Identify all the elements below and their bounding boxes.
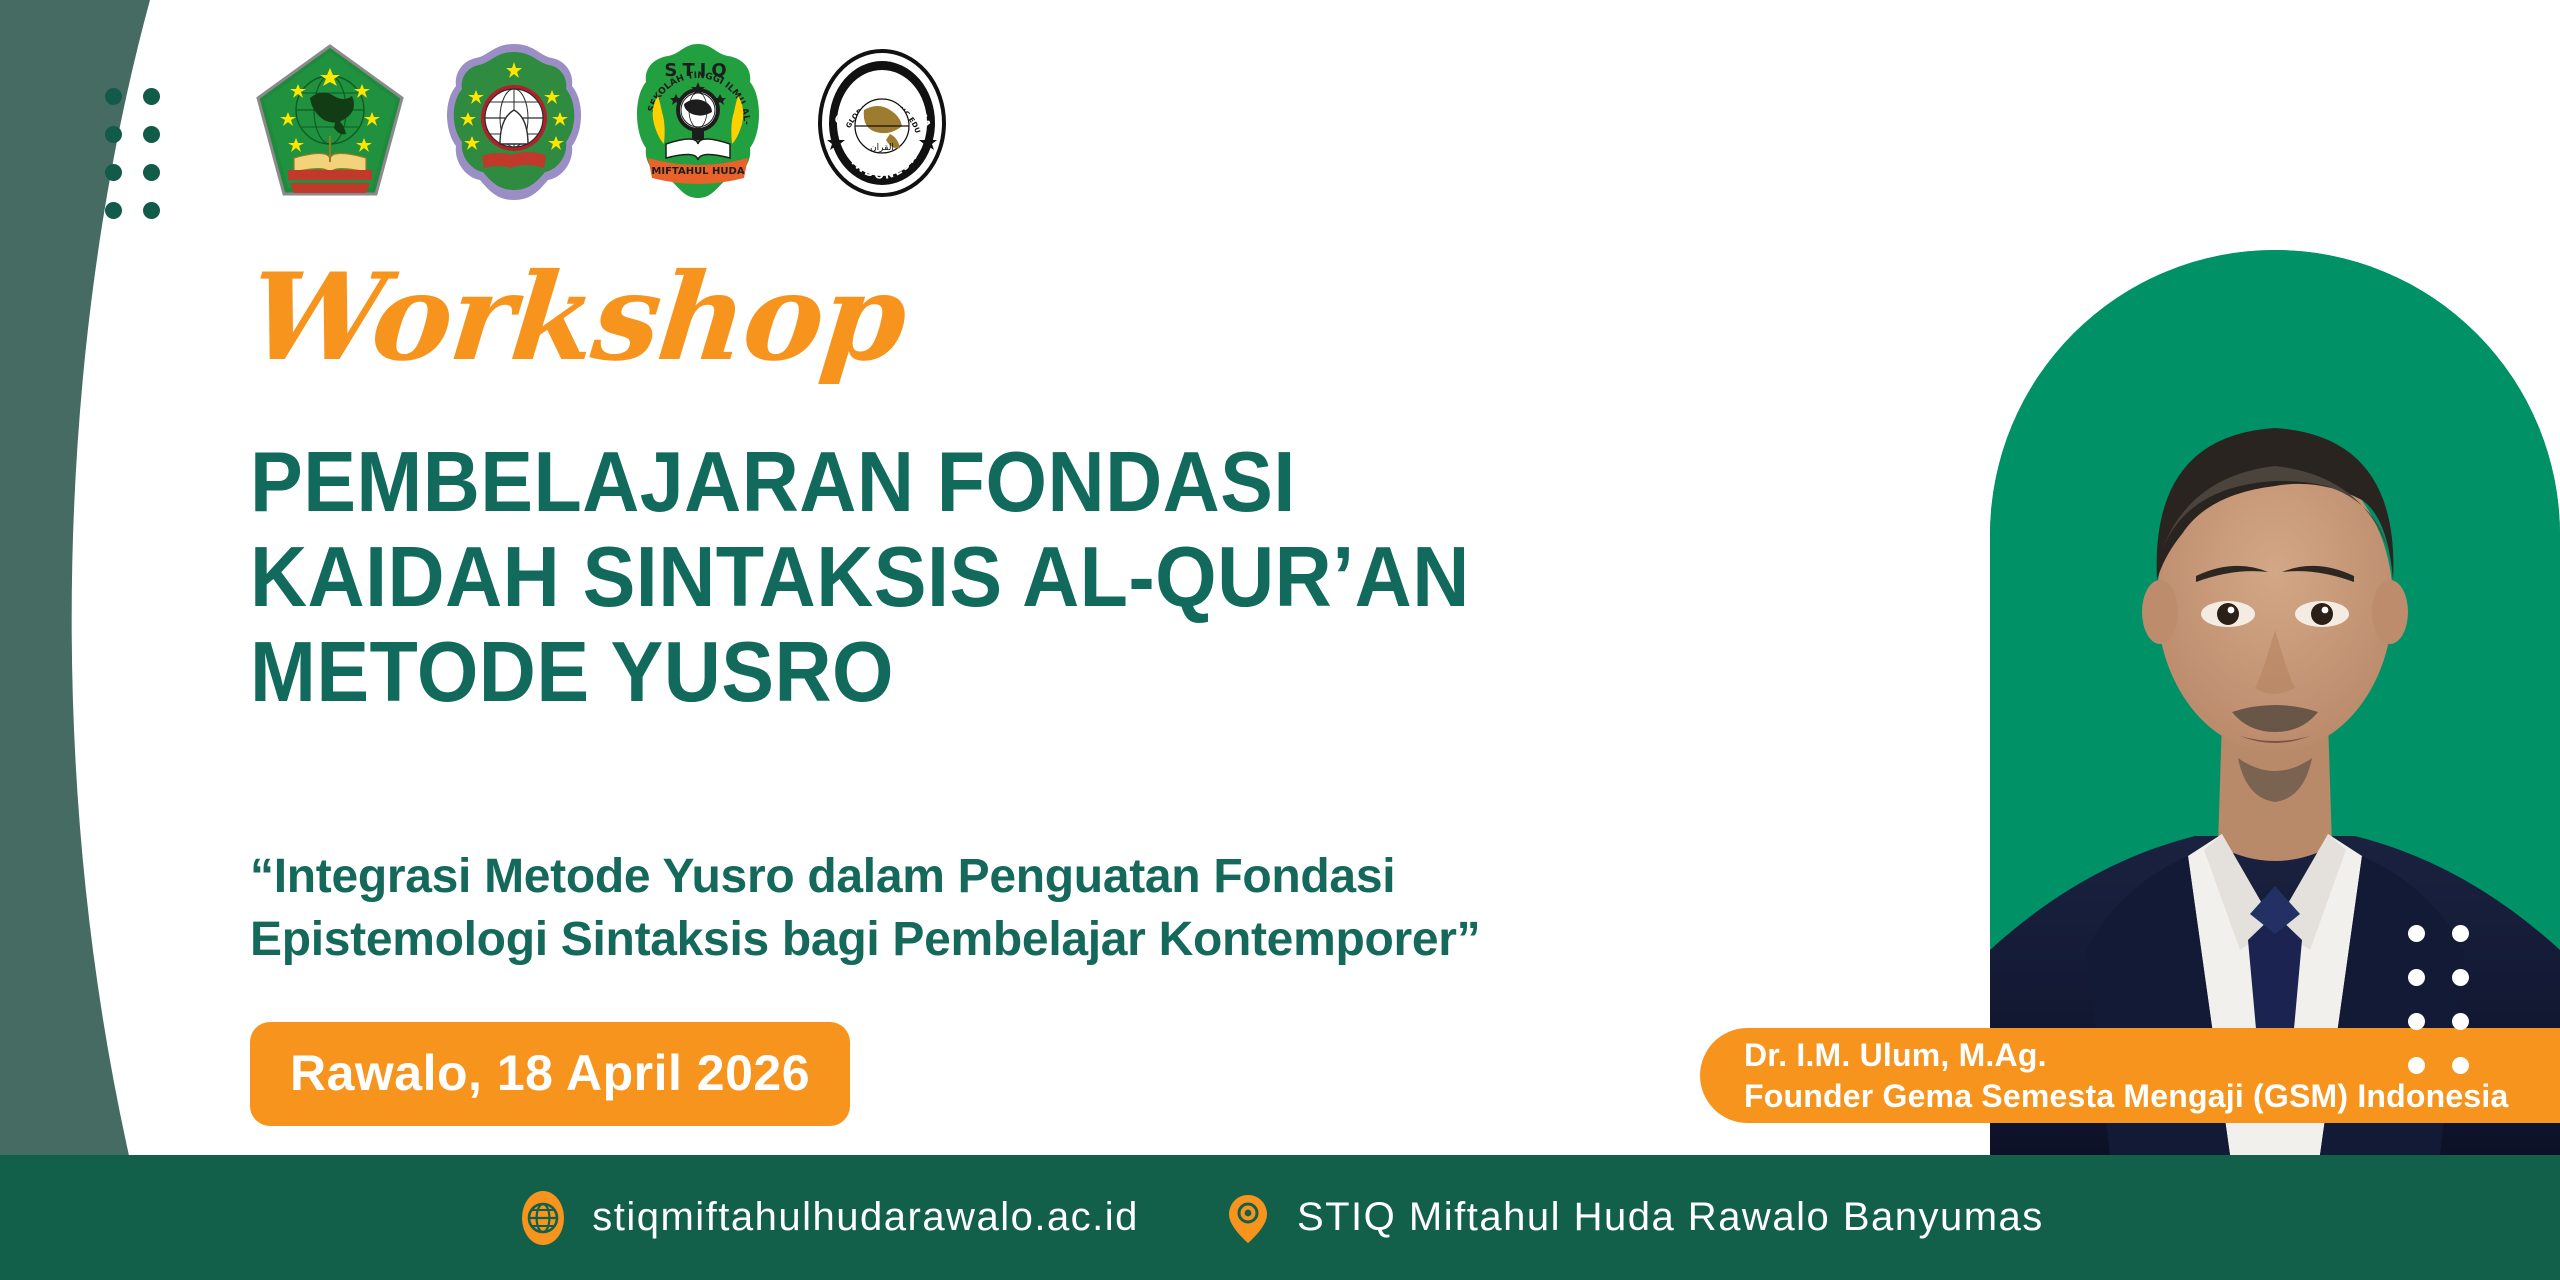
page-title: PEMBELAJARAN FONDASI KAIDAH SINTAKSIS AL… [250, 435, 1562, 721]
dot [2408, 1013, 2425, 1030]
headline-line-1: PEMBELAJARAN FONDASI [250, 435, 1470, 530]
footer-location-text: STIQ Miftahul Huda Rawalo Banyumas [1297, 1195, 2044, 1240]
headline-line-3: METODE YUSRO [250, 625, 1470, 720]
svg-text:القران: القران [870, 143, 894, 153]
date-location-label: Rawalo, 18 April 2026 [290, 1045, 810, 1101]
dot [2452, 925, 2469, 942]
partner-logos: STIQ SEKOLAH TINGGI ILMU AL-QUR'AN [250, 38, 962, 208]
dot [2452, 969, 2469, 986]
eyebrow-script-workshop: Workshop [244, 258, 911, 378]
map-pin-icon [1221, 1191, 1275, 1245]
dot [143, 88, 160, 105]
footer-contact-bar: stiqmiftahulhudarawalo.ac.id STIQ Miftah… [0, 1155, 2560, 1280]
dot [105, 164, 122, 181]
headline-line-2: KAIDAH SINTAKSIS AL-QUR’AN [250, 530, 1470, 625]
dot [2408, 1057, 2425, 1074]
subtitle-line-2: Epistemologi Sintaksis bagi Pembelajar K… [250, 908, 1950, 971]
kementerian-agama-logo [250, 38, 410, 208]
dot [2408, 969, 2425, 986]
gema-semesta-mengaji-logo: GEMA SEMESTA MENGAJI GLOBAL QURANIC EDUC… [802, 38, 962, 208]
right-dot-grid [2408, 925, 2496, 1101]
dot [105, 202, 122, 219]
left-dot-grid [105, 88, 181, 240]
footer-website-item[interactable]: stiqmiftahulhudarawalo.ac.id [516, 1191, 1139, 1245]
dot [105, 88, 122, 105]
dot [143, 164, 160, 181]
dot [105, 126, 122, 143]
dot [143, 202, 160, 219]
miftahul-huda-pesantren-logo [434, 38, 594, 208]
workshop-banner: STIQ SEKOLAH TINGGI ILMU AL-QUR'AN [0, 0, 2560, 1280]
footer-location-item[interactable]: STIQ Miftahul Huda Rawalo Banyumas [1221, 1191, 2044, 1245]
stiq-miftahul-huda-logo: STIQ SEKOLAH TINGGI ILMU AL-QUR'AN [618, 38, 778, 208]
dot [2452, 1013, 2469, 1030]
dot [2452, 1057, 2469, 1074]
dot [143, 126, 160, 143]
globe-icon [516, 1191, 570, 1245]
subtitle-quote: “Integrasi Metode Yusro dalam Penguatan … [250, 845, 1950, 972]
footer-website-text: stiqmiftahulhudarawalo.ac.id [592, 1195, 1139, 1240]
svg-text:MIFTAHUL HUDA: MIFTAHUL HUDA [651, 166, 744, 177]
date-location-pill[interactable]: Rawalo, 18 April 2026 [250, 1022, 850, 1126]
dot [2408, 925, 2425, 942]
subtitle-line-1: “Integrasi Metode Yusro dalam Penguatan … [250, 845, 1950, 908]
